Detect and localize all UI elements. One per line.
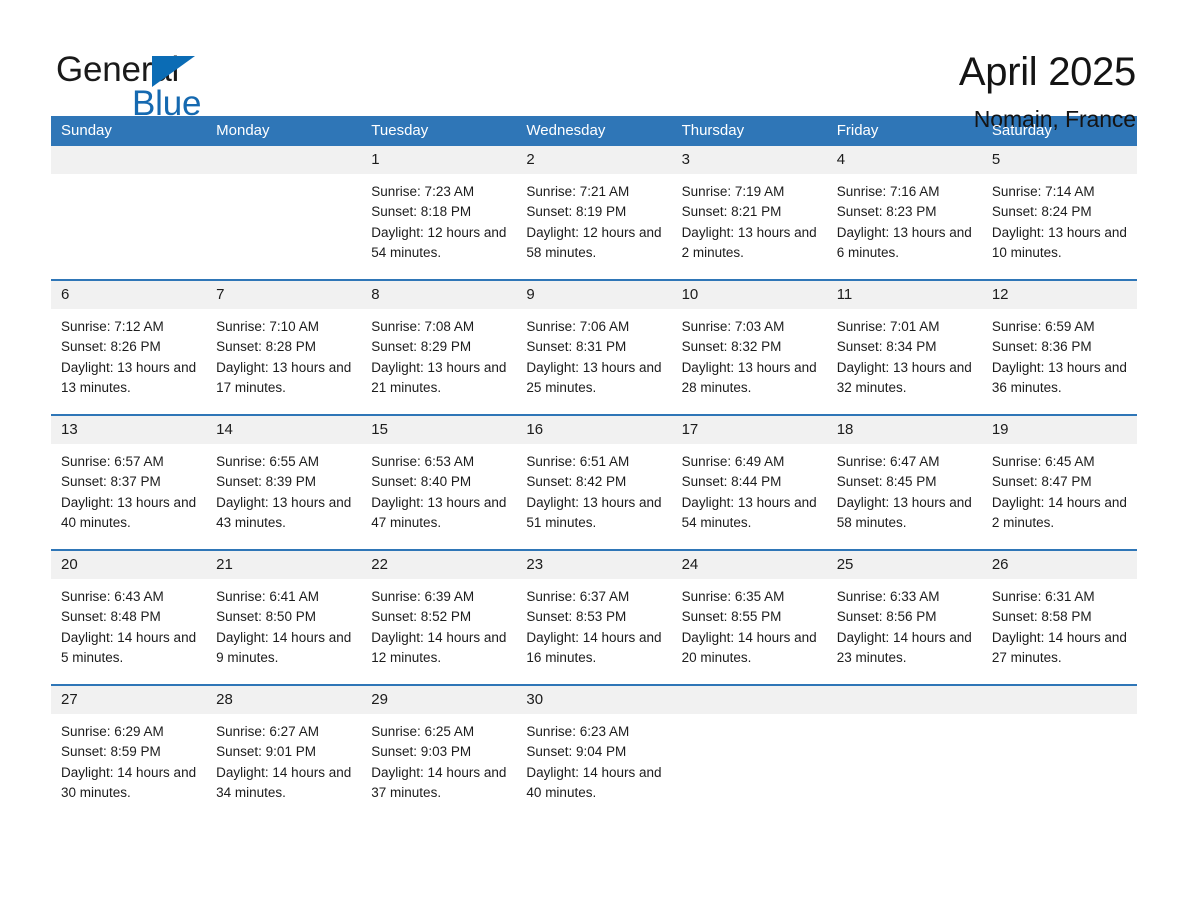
day-cell-2[interactable]: 2Sunrise: 7:21 AMSunset: 8:19 PMDaylight… xyxy=(516,146,671,279)
day-number: 2 xyxy=(516,146,671,174)
sunset-text: Sunset: 9:01 PM xyxy=(216,742,353,762)
sunrise-text: Sunrise: 7:21 AM xyxy=(526,182,663,202)
day-details xyxy=(982,714,1137,722)
sunset-text: Sunset: 8:18 PM xyxy=(371,202,508,222)
sunset-text: Sunset: 8:58 PM xyxy=(992,607,1129,627)
day-details: Sunrise: 6:51 AMSunset: 8:42 PMDaylight:… xyxy=(516,444,671,533)
calendar-weeks: 1Sunrise: 7:23 AMSunset: 8:18 PMDaylight… xyxy=(51,146,1137,806)
daylight-text: Daylight: 13 hours and 58 minutes. xyxy=(837,493,974,534)
sunrise-text: Sunrise: 6:23 AM xyxy=(526,722,663,742)
day-cell-empty xyxy=(672,686,827,806)
day-number: 10 xyxy=(672,281,827,309)
sunset-text: Sunset: 8:24 PM xyxy=(992,202,1129,222)
sunrise-text: Sunrise: 6:25 AM xyxy=(371,722,508,742)
day-details: Sunrise: 7:19 AMSunset: 8:21 PMDaylight:… xyxy=(672,174,827,263)
sunset-text: Sunset: 8:31 PM xyxy=(526,337,663,357)
sunset-text: Sunset: 8:40 PM xyxy=(371,472,508,492)
day-cell-28[interactable]: 28Sunrise: 6:27 AMSunset: 9:01 PMDayligh… xyxy=(206,686,361,806)
sunrise-text: Sunrise: 6:57 AM xyxy=(61,452,198,472)
day-cell-1[interactable]: 1Sunrise: 7:23 AMSunset: 8:18 PMDaylight… xyxy=(361,146,516,279)
day-number: 11 xyxy=(827,281,982,309)
day-number: 22 xyxy=(361,551,516,579)
day-cell-27[interactable]: 27Sunrise: 6:29 AMSunset: 8:59 PMDayligh… xyxy=(51,686,206,806)
day-details: Sunrise: 7:14 AMSunset: 8:24 PMDaylight:… xyxy=(982,174,1137,263)
week-cells: 20Sunrise: 6:43 AMSunset: 8:48 PMDayligh… xyxy=(51,551,1137,684)
day-number: 16 xyxy=(516,416,671,444)
day-details: Sunrise: 6:33 AMSunset: 8:56 PMDaylight:… xyxy=(827,579,982,668)
sunset-text: Sunset: 8:48 PM xyxy=(61,607,198,627)
sunrise-text: Sunrise: 6:47 AM xyxy=(837,452,974,472)
day-details: Sunrise: 6:49 AMSunset: 8:44 PMDaylight:… xyxy=(672,444,827,533)
day-cell-3[interactable]: 3Sunrise: 7:19 AMSunset: 8:21 PMDaylight… xyxy=(672,146,827,279)
sunset-text: Sunset: 8:29 PM xyxy=(371,337,508,357)
daylight-text: Daylight: 14 hours and 30 minutes. xyxy=(61,763,198,804)
day-cell-29[interactable]: 29Sunrise: 6:25 AMSunset: 9:03 PMDayligh… xyxy=(361,686,516,806)
day-number: 14 xyxy=(206,416,361,444)
calendar-week-row: 20Sunrise: 6:43 AMSunset: 8:48 PMDayligh… xyxy=(51,549,1137,684)
day-number: 7 xyxy=(206,281,361,309)
day-cell-empty xyxy=(827,686,982,806)
daylight-text: Daylight: 14 hours and 20 minutes. xyxy=(682,628,819,669)
sunset-text: Sunset: 8:52 PM xyxy=(371,607,508,627)
daylight-text: Daylight: 14 hours and 9 minutes. xyxy=(216,628,353,669)
daylight-text: Daylight: 13 hours and 47 minutes. xyxy=(371,493,508,534)
generalblue-logo[interactable]: General Blue xyxy=(56,46,236,122)
daylight-text: Daylight: 14 hours and 16 minutes. xyxy=(526,628,663,669)
week-cells: 13Sunrise: 6:57 AMSunset: 8:37 PMDayligh… xyxy=(51,416,1137,549)
day-cell-4[interactable]: 4Sunrise: 7:16 AMSunset: 8:23 PMDaylight… xyxy=(827,146,982,279)
daylight-text: Daylight: 13 hours and 17 minutes. xyxy=(216,358,353,399)
sunset-text: Sunset: 8:28 PM xyxy=(216,337,353,357)
sunset-text: Sunset: 8:34 PM xyxy=(837,337,974,357)
day-details: Sunrise: 6:37 AMSunset: 8:53 PMDaylight:… xyxy=(516,579,671,668)
daylight-text: Daylight: 13 hours and 13 minutes. xyxy=(61,358,198,399)
sunset-text: Sunset: 8:42 PM xyxy=(526,472,663,492)
day-number: 19 xyxy=(982,416,1137,444)
day-details: Sunrise: 6:25 AMSunset: 9:03 PMDaylight:… xyxy=(361,714,516,803)
day-number: 4 xyxy=(827,146,982,174)
day-cell-24[interactable]: 24Sunrise: 6:35 AMSunset: 8:55 PMDayligh… xyxy=(672,551,827,684)
sunrise-text: Sunrise: 7:08 AM xyxy=(371,317,508,337)
day-number xyxy=(672,686,827,714)
day-cell-22[interactable]: 22Sunrise: 6:39 AMSunset: 8:52 PMDayligh… xyxy=(361,551,516,684)
daylight-text: Daylight: 13 hours and 54 minutes. xyxy=(682,493,819,534)
day-number xyxy=(51,146,206,174)
day-number: 13 xyxy=(51,416,206,444)
day-cell-10[interactable]: 10Sunrise: 7:03 AMSunset: 8:32 PMDayligh… xyxy=(672,281,827,414)
day-details: Sunrise: 7:03 AMSunset: 8:32 PMDaylight:… xyxy=(672,309,827,398)
sunrise-text: Sunrise: 7:12 AM xyxy=(61,317,198,337)
day-number xyxy=(982,686,1137,714)
day-cell-30[interactable]: 30Sunrise: 6:23 AMSunset: 9:04 PMDayligh… xyxy=(516,686,671,806)
week-cells: 27Sunrise: 6:29 AMSunset: 8:59 PMDayligh… xyxy=(51,686,1137,806)
page-header: General Blue April 2025 Nomain, France xyxy=(0,0,1188,112)
sunset-text: Sunset: 8:50 PM xyxy=(216,607,353,627)
day-details: Sunrise: 7:16 AMSunset: 8:23 PMDaylight:… xyxy=(827,174,982,263)
weekday-header-saturday: Saturday xyxy=(982,116,1137,146)
sunrise-text: Sunrise: 6:29 AM xyxy=(61,722,198,742)
daylight-text: Daylight: 13 hours and 6 minutes. xyxy=(837,223,974,264)
sunrise-text: Sunrise: 6:59 AM xyxy=(992,317,1129,337)
daylight-text: Daylight: 13 hours and 40 minutes. xyxy=(61,493,198,534)
weekday-header-friday: Friday xyxy=(827,116,982,146)
daylight-text: Daylight: 14 hours and 23 minutes. xyxy=(837,628,974,669)
daylight-text: Daylight: 13 hours and 2 minutes. xyxy=(682,223,819,264)
day-cell-8[interactable]: 8Sunrise: 7:08 AMSunset: 8:29 PMDaylight… xyxy=(361,281,516,414)
day-details: Sunrise: 6:29 AMSunset: 8:59 PMDaylight:… xyxy=(51,714,206,803)
day-cell-25[interactable]: 25Sunrise: 6:33 AMSunset: 8:56 PMDayligh… xyxy=(827,551,982,684)
sunset-text: Sunset: 8:45 PM xyxy=(837,472,974,492)
day-details: Sunrise: 7:23 AMSunset: 8:18 PMDaylight:… xyxy=(361,174,516,263)
page-title: April 2025 xyxy=(959,48,1136,96)
week-cells: 1Sunrise: 7:23 AMSunset: 8:18 PMDaylight… xyxy=(51,146,1137,279)
daylight-text: Daylight: 14 hours and 27 minutes. xyxy=(992,628,1129,669)
sunset-text: Sunset: 8:23 PM xyxy=(837,202,974,222)
daylight-text: Daylight: 12 hours and 54 minutes. xyxy=(371,223,508,264)
sunrise-text: Sunrise: 6:43 AM xyxy=(61,587,198,607)
sunrise-text: Sunrise: 7:10 AM xyxy=(216,317,353,337)
day-details: Sunrise: 6:41 AMSunset: 8:50 PMDaylight:… xyxy=(206,579,361,668)
sunrise-text: Sunrise: 6:35 AM xyxy=(682,587,819,607)
day-details: Sunrise: 7:08 AMSunset: 8:29 PMDaylight:… xyxy=(361,309,516,398)
day-cell-15[interactable]: 15Sunrise: 6:53 AMSunset: 8:40 PMDayligh… xyxy=(361,416,516,549)
day-cell-12[interactable]: 12Sunrise: 6:59 AMSunset: 8:36 PMDayligh… xyxy=(982,281,1137,414)
daylight-text: Daylight: 13 hours and 43 minutes. xyxy=(216,493,353,534)
sunrise-text: Sunrise: 7:19 AM xyxy=(682,182,819,202)
sunset-text: Sunset: 8:56 PM xyxy=(837,607,974,627)
sunset-text: Sunset: 9:03 PM xyxy=(371,742,508,762)
sunset-text: Sunset: 8:37 PM xyxy=(61,472,198,492)
day-details: Sunrise: 6:43 AMSunset: 8:48 PMDaylight:… xyxy=(51,579,206,668)
sunrise-text: Sunrise: 6:27 AM xyxy=(216,722,353,742)
day-number: 17 xyxy=(672,416,827,444)
sunset-text: Sunset: 8:53 PM xyxy=(526,607,663,627)
sunrise-text: Sunrise: 6:31 AM xyxy=(992,587,1129,607)
day-details: Sunrise: 7:10 AMSunset: 8:28 PMDaylight:… xyxy=(206,309,361,398)
sunset-text: Sunset: 8:32 PM xyxy=(682,337,819,357)
day-cell-19[interactable]: 19Sunrise: 6:45 AMSunset: 8:47 PMDayligh… xyxy=(982,416,1137,549)
sunrise-text: Sunrise: 7:16 AM xyxy=(837,182,974,202)
calendar-page: General Blue April 2025 Nomain, France S… xyxy=(0,0,1188,918)
day-details xyxy=(827,714,982,722)
day-cell-empty xyxy=(982,686,1137,806)
calendar-week-row: 13Sunrise: 6:57 AMSunset: 8:37 PMDayligh… xyxy=(51,414,1137,549)
sunrise-text: Sunrise: 6:53 AM xyxy=(371,452,508,472)
daylight-text: Daylight: 13 hours and 51 minutes. xyxy=(526,493,663,534)
sunrise-text: Sunrise: 7:14 AM xyxy=(992,182,1129,202)
sunset-text: Sunset: 8:59 PM xyxy=(61,742,198,762)
sunset-text: Sunset: 8:21 PM xyxy=(682,202,819,222)
day-details: Sunrise: 6:31 AMSunset: 8:58 PMDaylight:… xyxy=(982,579,1137,668)
day-details: Sunrise: 6:23 AMSunset: 9:04 PMDaylight:… xyxy=(516,714,671,803)
week-cells: 6Sunrise: 7:12 AMSunset: 8:26 PMDaylight… xyxy=(51,281,1137,414)
day-details xyxy=(672,714,827,722)
day-number: 5 xyxy=(982,146,1137,174)
day-details: Sunrise: 6:53 AMSunset: 8:40 PMDaylight:… xyxy=(361,444,516,533)
day-details: Sunrise: 6:59 AMSunset: 8:36 PMDaylight:… xyxy=(982,309,1137,398)
day-cell-17[interactable]: 17Sunrise: 6:49 AMSunset: 8:44 PMDayligh… xyxy=(672,416,827,549)
day-cell-6[interactable]: 6Sunrise: 7:12 AMSunset: 8:26 PMDaylight… xyxy=(51,281,206,414)
day-number xyxy=(827,686,982,714)
calendar-week-row: 1Sunrise: 7:23 AMSunset: 8:18 PMDaylight… xyxy=(51,146,1137,279)
weekday-header-thursday: Thursday xyxy=(672,116,827,146)
day-number: 1 xyxy=(361,146,516,174)
day-number: 30 xyxy=(516,686,671,714)
day-number: 24 xyxy=(672,551,827,579)
sunset-text: Sunset: 8:36 PM xyxy=(992,337,1129,357)
day-cell-5[interactable]: 5Sunrise: 7:14 AMSunset: 8:24 PMDaylight… xyxy=(982,146,1137,279)
sunrise-text: Sunrise: 6:45 AM xyxy=(992,452,1129,472)
sunset-text: Sunset: 8:26 PM xyxy=(61,337,198,357)
sunrise-text: Sunrise: 6:51 AM xyxy=(526,452,663,472)
day-cell-11[interactable]: 11Sunrise: 7:01 AMSunset: 8:34 PMDayligh… xyxy=(827,281,982,414)
day-number: 26 xyxy=(982,551,1137,579)
day-number: 3 xyxy=(672,146,827,174)
day-cell-16[interactable]: 16Sunrise: 6:51 AMSunset: 8:42 PMDayligh… xyxy=(516,416,671,549)
day-details: Sunrise: 6:45 AMSunset: 8:47 PMDaylight:… xyxy=(982,444,1137,533)
daylight-text: Daylight: 14 hours and 2 minutes. xyxy=(992,493,1129,534)
day-details: Sunrise: 7:06 AMSunset: 8:31 PMDaylight:… xyxy=(516,309,671,398)
sunrise-text: Sunrise: 6:37 AM xyxy=(526,587,663,607)
triangle-icon xyxy=(152,56,195,87)
daylight-text: Daylight: 13 hours and 21 minutes. xyxy=(371,358,508,399)
logo-text-blue: Blue xyxy=(132,84,201,124)
day-number: 18 xyxy=(827,416,982,444)
day-cell-20[interactable]: 20Sunrise: 6:43 AMSunset: 8:48 PMDayligh… xyxy=(51,551,206,684)
day-details: Sunrise: 6:57 AMSunset: 8:37 PMDaylight:… xyxy=(51,444,206,533)
day-number: 21 xyxy=(206,551,361,579)
daylight-text: Daylight: 14 hours and 37 minutes. xyxy=(371,763,508,804)
sunrise-text: Sunrise: 6:33 AM xyxy=(837,587,974,607)
sunset-text: Sunset: 8:19 PM xyxy=(526,202,663,222)
daylight-text: Daylight: 14 hours and 5 minutes. xyxy=(61,628,198,669)
day-cell-7[interactable]: 7Sunrise: 7:10 AMSunset: 8:28 PMDaylight… xyxy=(206,281,361,414)
day-number: 23 xyxy=(516,551,671,579)
sunrise-text: Sunrise: 6:39 AM xyxy=(371,587,508,607)
day-cell-empty xyxy=(51,146,206,279)
day-details: Sunrise: 6:55 AMSunset: 8:39 PMDaylight:… xyxy=(206,444,361,533)
calendar-grid: SundayMondayTuesdayWednesdayThursdayFrid… xyxy=(51,116,1137,806)
sunset-text: Sunset: 8:55 PM xyxy=(682,607,819,627)
day-cell-21[interactable]: 21Sunrise: 6:41 AMSunset: 8:50 PMDayligh… xyxy=(206,551,361,684)
day-number: 8 xyxy=(361,281,516,309)
day-details: Sunrise: 7:01 AMSunset: 8:34 PMDaylight:… xyxy=(827,309,982,398)
day-cell-9[interactable]: 9Sunrise: 7:06 AMSunset: 8:31 PMDaylight… xyxy=(516,281,671,414)
calendar-week-row: 6Sunrise: 7:12 AMSunset: 8:26 PMDaylight… xyxy=(51,279,1137,414)
day-cell-14[interactable]: 14Sunrise: 6:55 AMSunset: 8:39 PMDayligh… xyxy=(206,416,361,549)
day-cell-13[interactable]: 13Sunrise: 6:57 AMSunset: 8:37 PMDayligh… xyxy=(51,416,206,549)
day-cell-empty xyxy=(206,146,361,279)
day-number: 28 xyxy=(206,686,361,714)
daylight-text: Daylight: 13 hours and 10 minutes. xyxy=(992,223,1129,264)
sunrise-text: Sunrise: 6:55 AM xyxy=(216,452,353,472)
day-number: 20 xyxy=(51,551,206,579)
day-cell-26[interactable]: 26Sunrise: 6:31 AMSunset: 8:58 PMDayligh… xyxy=(982,551,1137,684)
day-cell-18[interactable]: 18Sunrise: 6:47 AMSunset: 8:45 PMDayligh… xyxy=(827,416,982,549)
sunset-text: Sunset: 8:39 PM xyxy=(216,472,353,492)
day-number: 6 xyxy=(51,281,206,309)
day-details xyxy=(51,174,206,182)
sunrise-text: Sunrise: 7:01 AM xyxy=(837,317,974,337)
daylight-text: Daylight: 13 hours and 28 minutes. xyxy=(682,358,819,399)
sunset-text: Sunset: 9:04 PM xyxy=(526,742,663,762)
calendar-week-row: 27Sunrise: 6:29 AMSunset: 8:59 PMDayligh… xyxy=(51,684,1137,806)
daylight-text: Daylight: 13 hours and 25 minutes. xyxy=(526,358,663,399)
day-number xyxy=(206,146,361,174)
sunrise-text: Sunrise: 7:06 AM xyxy=(526,317,663,337)
sunrise-text: Sunrise: 6:49 AM xyxy=(682,452,819,472)
sunset-text: Sunset: 8:44 PM xyxy=(682,472,819,492)
day-number: 27 xyxy=(51,686,206,714)
day-details: Sunrise: 6:35 AMSunset: 8:55 PMDaylight:… xyxy=(672,579,827,668)
daylight-text: Daylight: 14 hours and 40 minutes. xyxy=(526,763,663,804)
sunrise-text: Sunrise: 6:41 AM xyxy=(216,587,353,607)
day-number: 25 xyxy=(827,551,982,579)
daylight-text: Daylight: 13 hours and 32 minutes. xyxy=(837,358,974,399)
daylight-text: Daylight: 14 hours and 34 minutes. xyxy=(216,763,353,804)
day-details: Sunrise: 6:39 AMSunset: 8:52 PMDaylight:… xyxy=(361,579,516,668)
day-cell-23[interactable]: 23Sunrise: 6:37 AMSunset: 8:53 PMDayligh… xyxy=(516,551,671,684)
daylight-text: Daylight: 14 hours and 12 minutes. xyxy=(371,628,508,669)
weekday-header-wednesday: Wednesday xyxy=(516,116,671,146)
day-details: Sunrise: 6:47 AMSunset: 8:45 PMDaylight:… xyxy=(827,444,982,533)
sunset-text: Sunset: 8:47 PM xyxy=(992,472,1129,492)
sunrise-text: Sunrise: 7:03 AM xyxy=(682,317,819,337)
day-number: 15 xyxy=(361,416,516,444)
day-number: 12 xyxy=(982,281,1137,309)
daylight-text: Daylight: 13 hours and 36 minutes. xyxy=(992,358,1129,399)
day-details: Sunrise: 7:21 AMSunset: 8:19 PMDaylight:… xyxy=(516,174,671,263)
day-details: Sunrise: 7:12 AMSunset: 8:26 PMDaylight:… xyxy=(51,309,206,398)
daylight-text: Daylight: 12 hours and 58 minutes. xyxy=(526,223,663,264)
sunrise-text: Sunrise: 7:23 AM xyxy=(371,182,508,202)
day-number: 29 xyxy=(361,686,516,714)
day-details xyxy=(206,174,361,182)
weekday-header-tuesday: Tuesday xyxy=(361,116,516,146)
day-number: 9 xyxy=(516,281,671,309)
day-details: Sunrise: 6:27 AMSunset: 9:01 PMDaylight:… xyxy=(206,714,361,803)
